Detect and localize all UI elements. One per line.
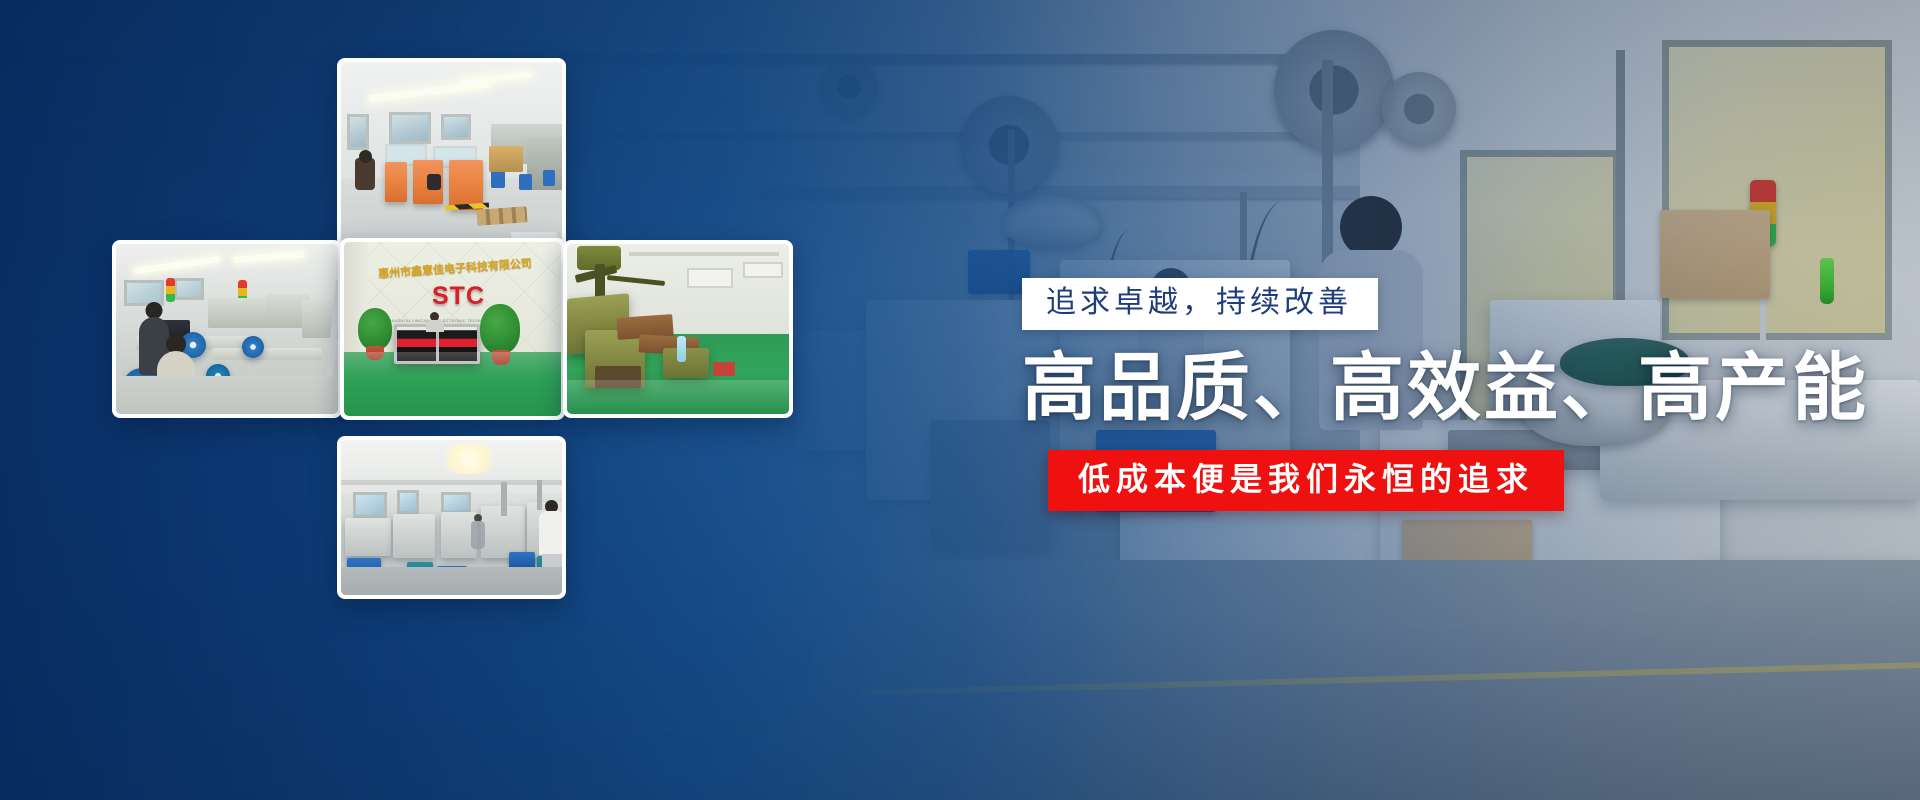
collage-photo-right[interactable] (563, 240, 793, 418)
tagline-badge: 追求卓越，持续改善 (1022, 278, 1378, 330)
headline: 高品质、高效益、高产能 (1022, 346, 1722, 430)
reception-logo: STC (432, 282, 485, 311)
banner-copy: 追求卓越，持续改善 高品质、高效益、高产能 低成本便是我们永恒的追求 (1022, 278, 1722, 511)
subline-badge: 低成本便是我们永恒的追求 (1048, 450, 1564, 512)
photo-collage: 惠州市鑫意佳电子科技有限公司 STC HUIZHOU YINGJIAJIA EL… (0, 0, 820, 800)
collage-photo-left[interactable] (112, 240, 342, 418)
collage-photo-center[interactable]: 惠州市鑫意佳电子科技有限公司 STC HUIZHOU YINGJIAJIA EL… (340, 238, 565, 420)
hero-banner: 惠州市鑫意佳电子科技有限公司 STC HUIZHOU YINGJIAJIA EL… (0, 0, 1920, 800)
collage-photo-bottom[interactable] (337, 436, 566, 599)
